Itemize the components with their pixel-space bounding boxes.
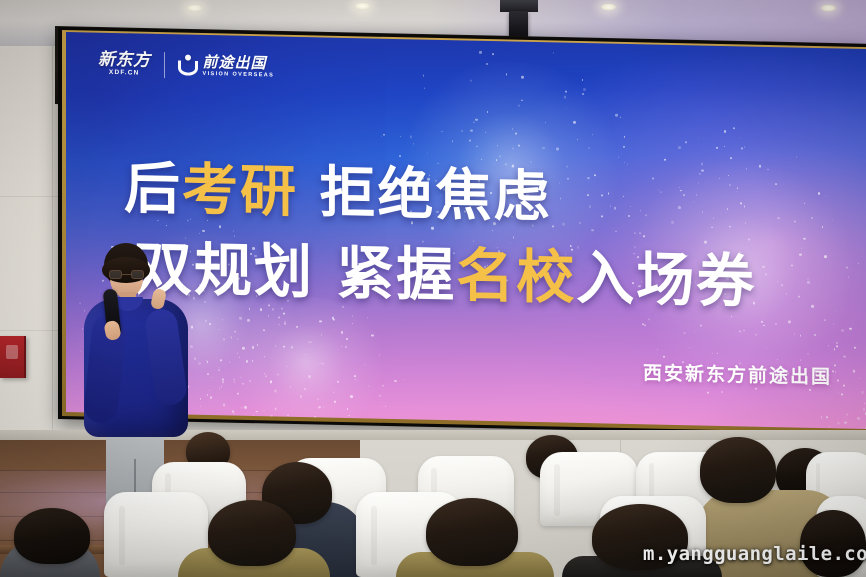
- audience-head: [426, 498, 518, 566]
- ceiling-downlight-icon: [354, 2, 371, 10]
- fire-extinguisher-cabinet-icon: [0, 336, 26, 378]
- wall-seam: [52, 46, 53, 455]
- presenter-glasses-icon: [109, 270, 144, 279]
- ceiling-downlight-icon: [820, 4, 837, 12]
- screen-subline: 西安新东方前途出国: [643, 358, 832, 389]
- headline-line2-highlight: 名校: [456, 241, 576, 312]
- vision-overseas-en: VISION OVERSEAS: [203, 72, 275, 79]
- photo-scene: 新东方 XDF.CN 前途出国 VISION OVERSEAS 后考研 拒绝焦虑…: [0, 0, 866, 577]
- headline-line1-part2: 拒绝焦虑: [298, 160, 552, 230]
- audience-head: [208, 500, 296, 566]
- xdf-logo-en: XDF.CN: [109, 70, 140, 77]
- xdf-logo-icon: 新东方 XDF.CN: [98, 51, 151, 77]
- headline-line-2: 双规划 紧握名校入场券: [134, 221, 756, 318]
- audience-head: [700, 437, 776, 503]
- vision-overseas-mark-icon: [178, 54, 198, 76]
- xdf-logo-cn: 新东方: [98, 51, 151, 69]
- logo-divider: [164, 52, 165, 78]
- vision-overseas-logo-icon: 前途出国 VISION OVERSEAS: [178, 54, 275, 79]
- ceiling-downlight-icon: [186, 4, 203, 12]
- headline-line-1: 后考研 拒绝焦虑: [124, 143, 552, 233]
- screen-logo-bar: 新东方 XDF.CN 前途出国 VISION OVERSEAS: [98, 51, 274, 81]
- site-watermark: m.yangguanglaile.co: [643, 543, 866, 565]
- ceiling-downlight-icon: [600, 3, 617, 11]
- audience-head: [14, 508, 90, 564]
- vision-overseas-cn: 前途出国: [203, 55, 275, 72]
- headline-line1-highlight: 考研: [182, 157, 298, 224]
- headline-line2-part2: 入场券: [576, 244, 756, 316]
- headline-line1-part1: 后: [124, 156, 182, 222]
